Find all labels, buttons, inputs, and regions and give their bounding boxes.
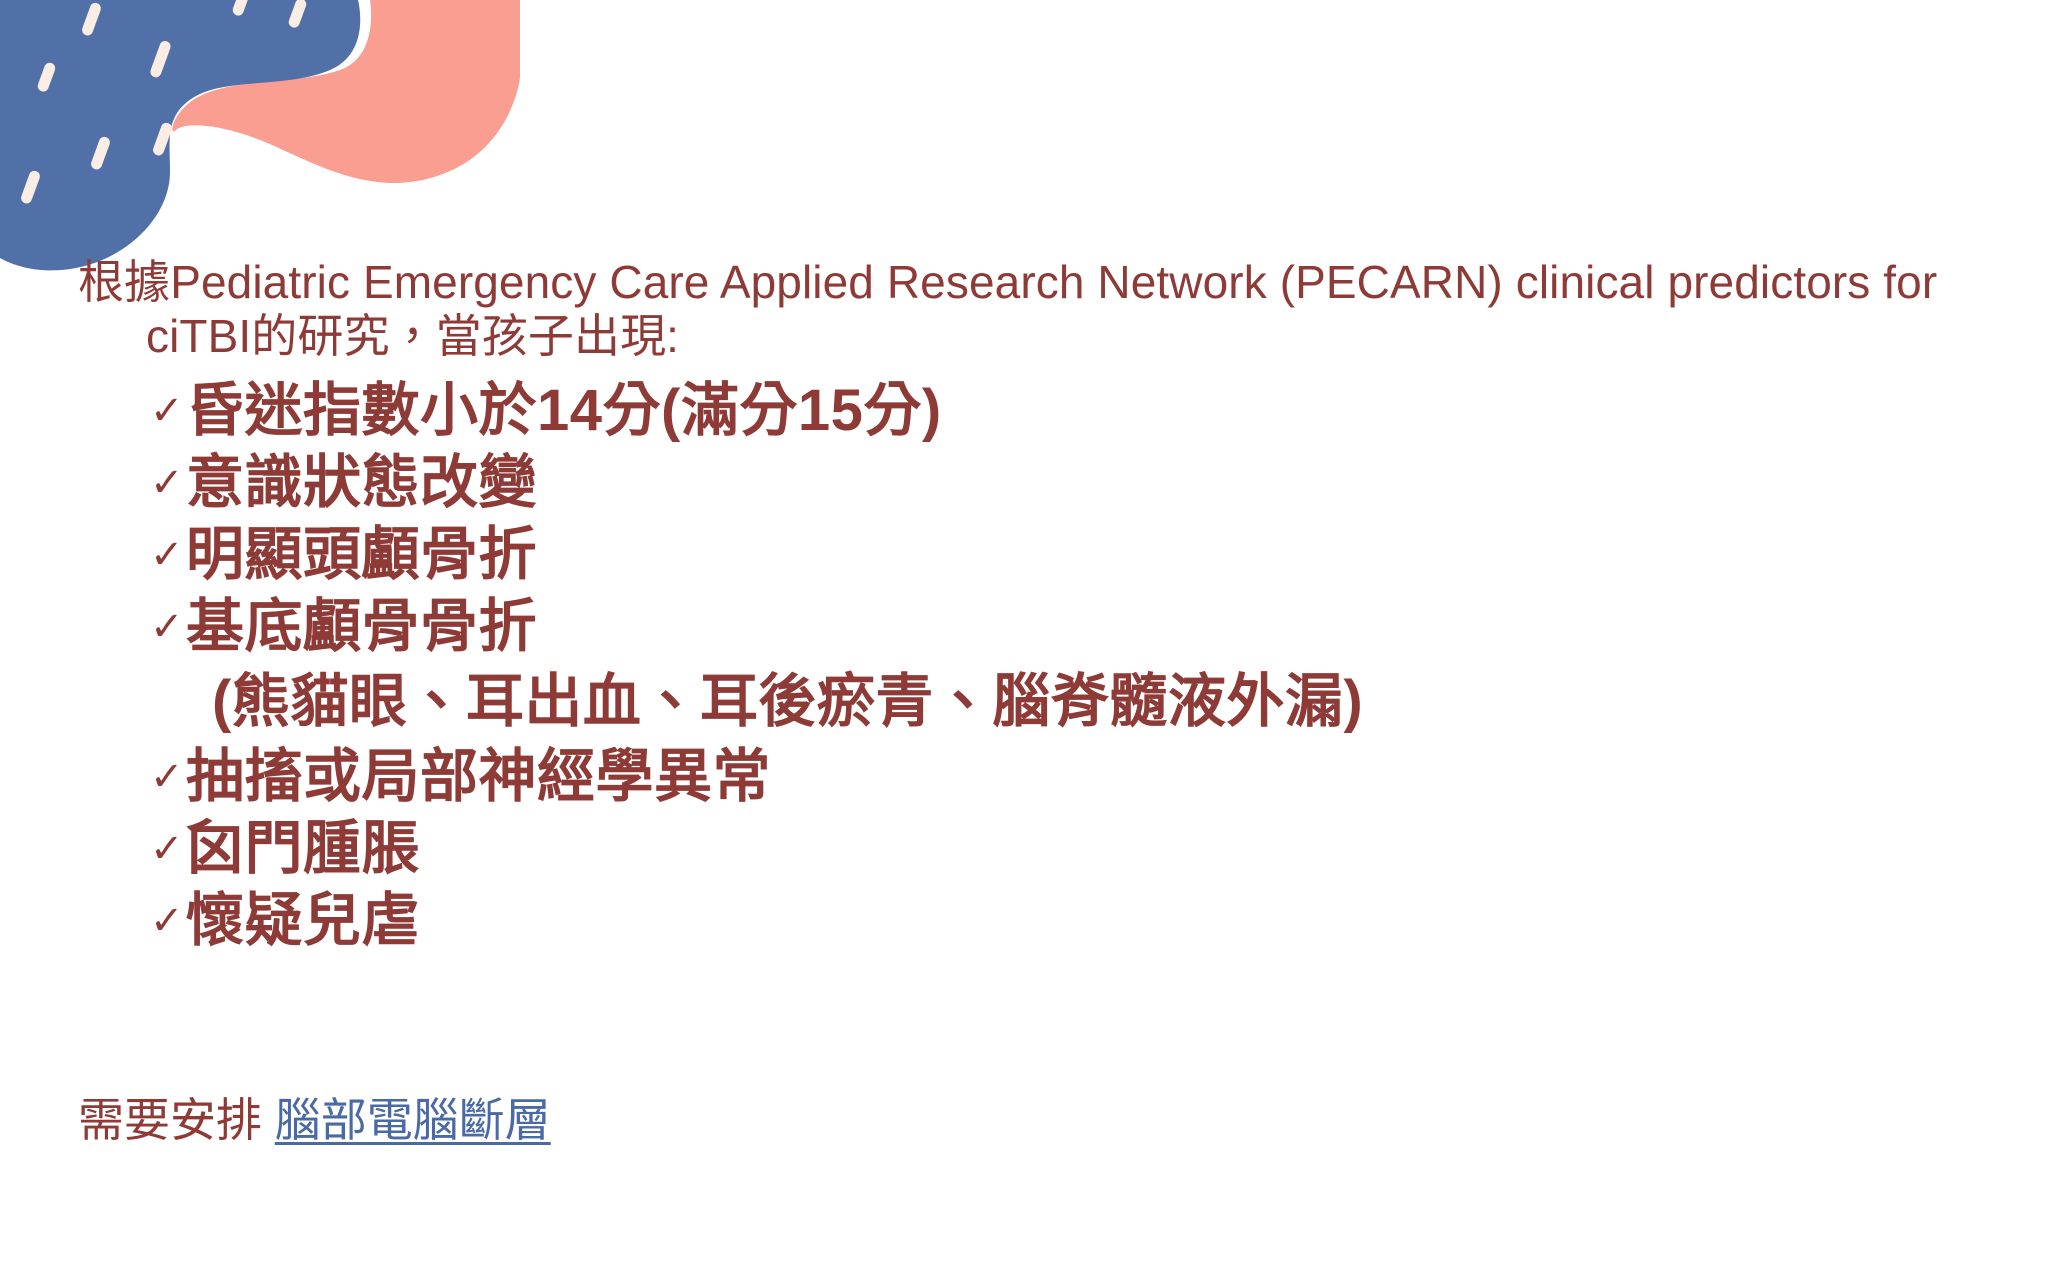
check-icon: ✓ xyxy=(78,813,186,885)
list-item-label: 明顯頭顱骨折 xyxy=(186,519,537,591)
list-item-label: 懷疑兒虐 xyxy=(186,885,420,957)
slide-heading: 根據Pediatric Emergency Care Applied Resea… xyxy=(78,255,1978,364)
check-icon: ✓ xyxy=(78,885,186,957)
heading-line-1: 根據Pediatric Emergency Care Applied Resea… xyxy=(78,256,1937,308)
list-item-subnote: (熊貓眼、耳出血、耳後瘀青、腦脊髓液外漏) xyxy=(78,663,1978,741)
list-item: ✓ 明顯頭顱骨折 xyxy=(78,519,1978,591)
subnote-label: (熊貓眼、耳出血、耳後瘀青、腦脊髓液外漏) xyxy=(212,663,1363,741)
list-item: ✓ 懷疑兒虐 xyxy=(78,885,1978,957)
list-item-label: 基底顱骨骨折 xyxy=(186,591,537,663)
list-item-label: 抽搐或局部神經學異常 xyxy=(186,741,771,813)
brain-ct-link[interactable]: 腦部電腦斷層 xyxy=(275,1094,551,1146)
check-icon: ✓ xyxy=(78,447,186,519)
slide-canvas: 根據Pediatric Emergency Care Applied Resea… xyxy=(0,0,2048,1280)
check-icon: ✓ xyxy=(78,741,186,813)
list-item: ✓ 昏迷指數小於14分(滿分15分) xyxy=(78,375,1978,447)
list-item-label: 昏迷指數小於14分(滿分15分) xyxy=(186,375,942,447)
check-icon: ✓ xyxy=(78,519,186,591)
dash-marks xyxy=(19,0,307,205)
list-item: ✓ 囟門腫脹 xyxy=(78,813,1978,885)
check-icon: ✓ xyxy=(78,591,186,663)
list-item: ✓ 基底顱骨骨折 xyxy=(78,591,1978,663)
footer-prefix-label: 需要安排 xyxy=(78,1094,275,1146)
footer-line: 需要安排 腦部電腦斷層 xyxy=(78,1095,551,1146)
blue-blob-shape xyxy=(0,0,360,270)
heading-line-2: ciTBI的研究，當孩子出現: xyxy=(78,309,1978,363)
list-item-label: 囟門腫脹 xyxy=(186,813,420,885)
list-item: ✓ 意識狀態改變 xyxy=(78,447,1978,519)
subnote-indent-spacer xyxy=(78,663,186,741)
pink-blob-shape xyxy=(172,0,520,183)
check-icon: ✓ xyxy=(78,375,186,447)
criteria-list: ✓ 昏迷指數小於14分(滿分15分) ✓ 意識狀態改變 ✓ 明顯頭顱骨折 ✓ 基… xyxy=(78,375,1978,957)
list-item: ✓ 抽搐或局部神經學異常 xyxy=(78,741,1978,813)
list-item-label: 意識狀態改變 xyxy=(186,447,537,519)
